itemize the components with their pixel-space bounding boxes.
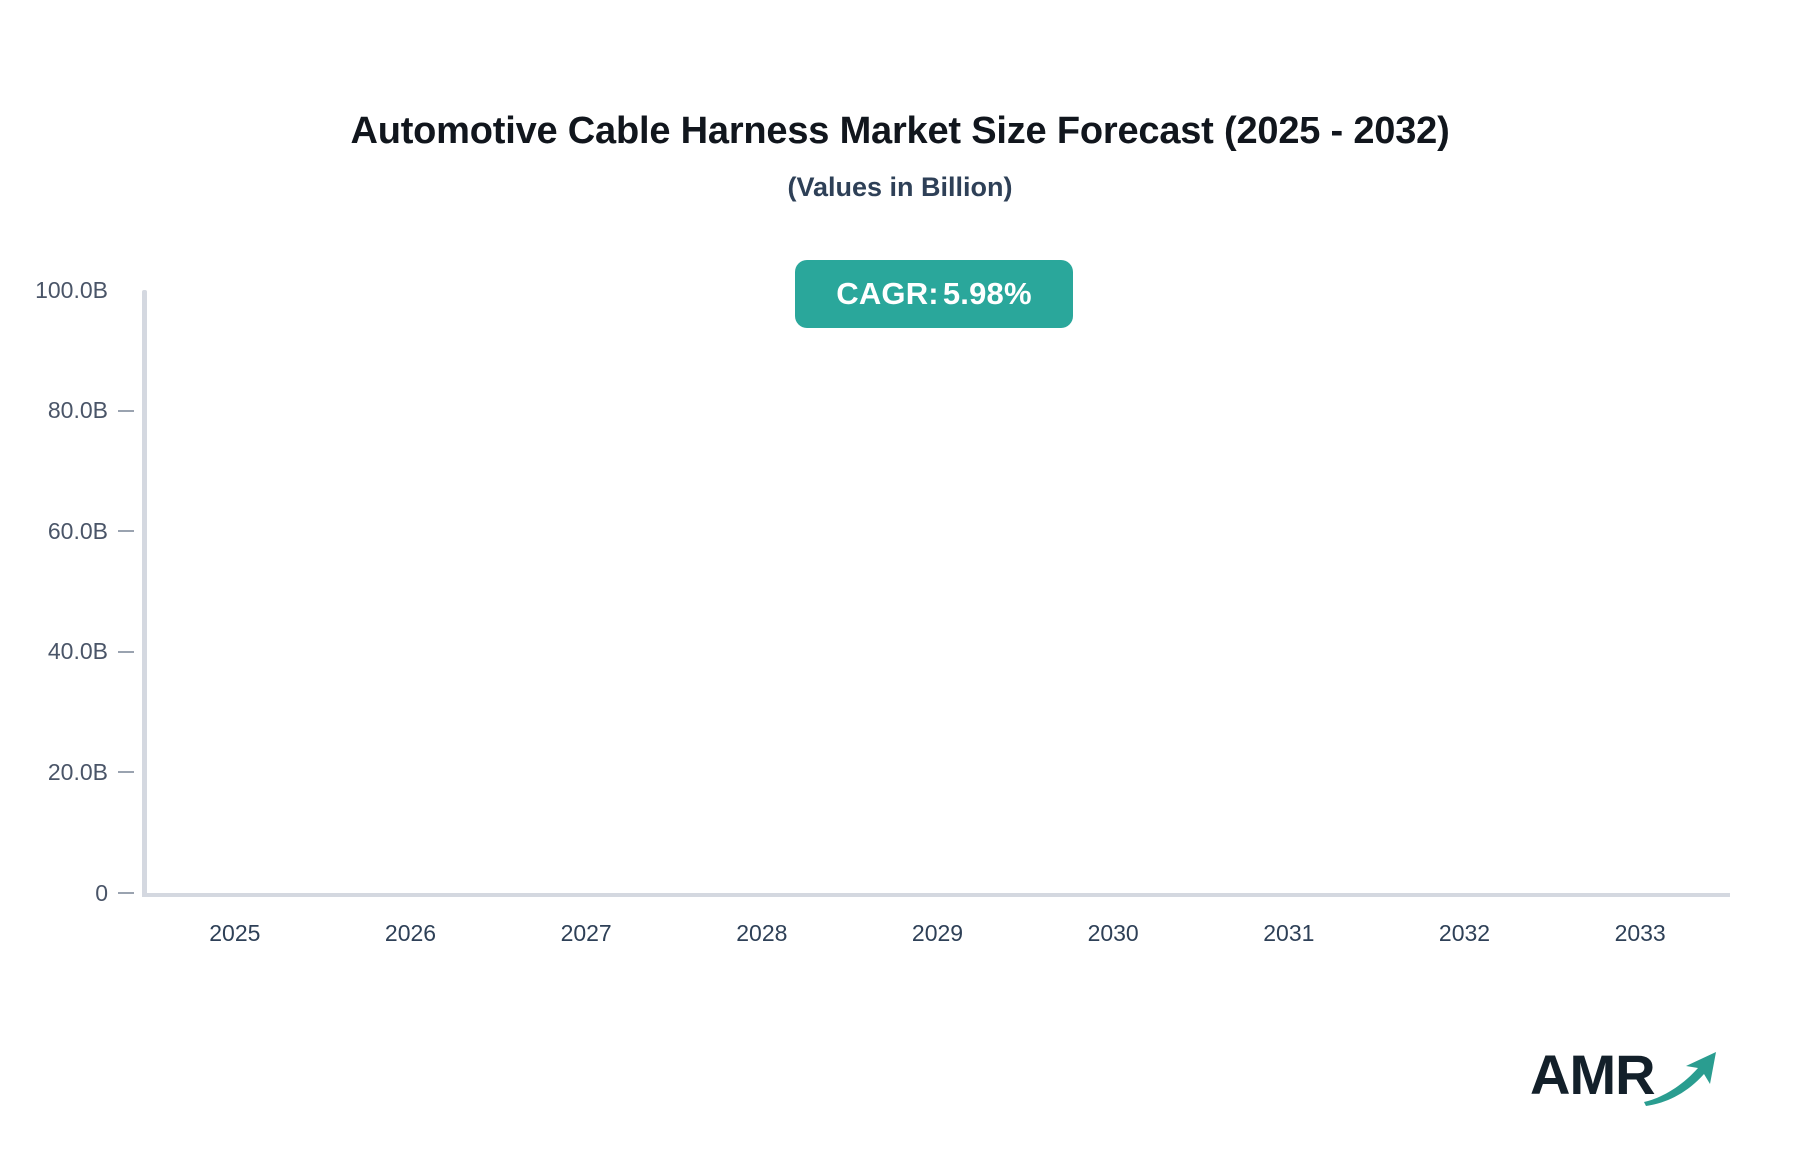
cagr-label: CAGR: xyxy=(836,276,939,312)
x-axis-line xyxy=(142,893,1730,897)
x-label-2027: 2027 xyxy=(486,920,686,947)
y-tick-mark xyxy=(118,771,134,773)
x-label-2026: 2026 xyxy=(311,920,511,947)
y-tick-label: 100.0B xyxy=(35,279,118,302)
y-tick-mark xyxy=(118,892,134,894)
x-label-2025: 2025 xyxy=(135,920,335,947)
y-tick-label: 0 xyxy=(95,882,118,905)
y-tick-label: 60.0B xyxy=(48,520,118,543)
x-label-2032: 2032 xyxy=(1365,920,1565,947)
trending-up-arrow-icon xyxy=(1642,1048,1720,1106)
x-label-2028: 2028 xyxy=(662,920,862,947)
chart-subtitle: (Values in Billion) xyxy=(0,172,1800,203)
cagr-badge: CAGR: 5.98% xyxy=(795,260,1073,328)
y-tick-mark xyxy=(118,651,134,653)
x-label-2030: 2030 xyxy=(1013,920,1213,947)
amr-logo-text: AMR xyxy=(1530,1042,1655,1107)
y-tick-label: 40.0B xyxy=(48,640,118,663)
chart-canvas: Automotive Cable Harness Market Size For… xyxy=(0,0,1800,1156)
y-tick-mark xyxy=(118,410,134,412)
y-tick-label: 20.0B xyxy=(48,761,118,784)
x-label-2031: 2031 xyxy=(1189,920,1389,947)
y-tick-mark xyxy=(118,289,134,291)
x-label-2033: 2033 xyxy=(1540,920,1740,947)
cagr-value: 5.98% xyxy=(943,276,1032,312)
y-axis-line xyxy=(142,290,147,896)
y-tick-label: 80.0B xyxy=(48,399,118,422)
amr-logo: AMR xyxy=(1530,1040,1720,1112)
y-tick-mark xyxy=(118,530,134,532)
x-label-2029: 2029 xyxy=(838,920,1038,947)
page-title: Automotive Cable Harness Market Size For… xyxy=(0,110,1800,153)
